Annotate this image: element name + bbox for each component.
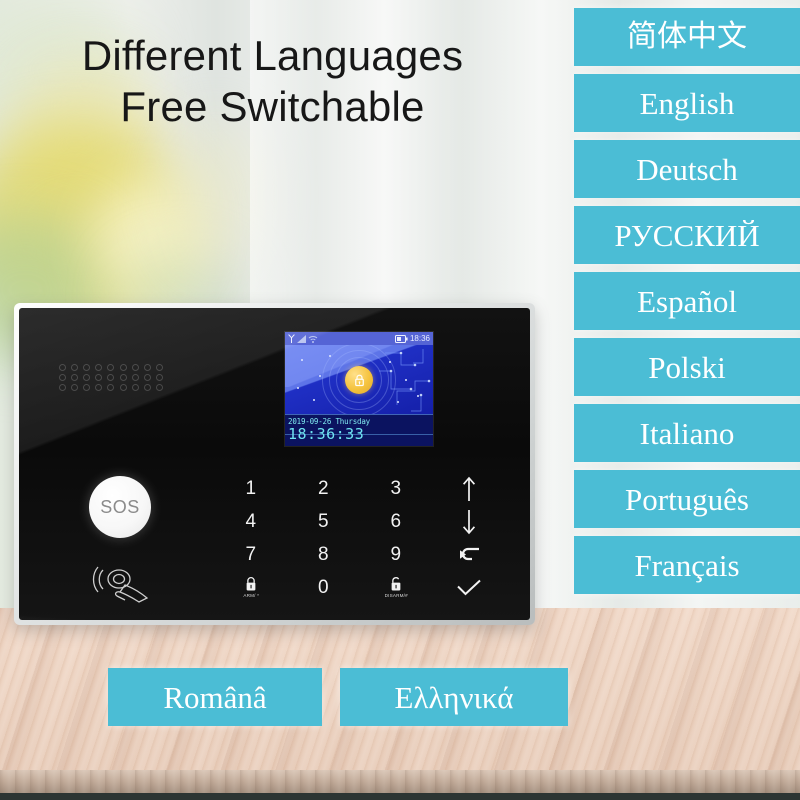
wifi-icon <box>308 335 318 343</box>
language-badge-russian[interactable]: РУССКИЙ <box>574 206 800 264</box>
padlock-icon <box>345 366 373 394</box>
lcd-display: 18:36 2019-09-26 Thursday 18:36:33 <box>285 332 433 446</box>
key-label: 4 <box>245 512 257 531</box>
key-sublabel: ARM/ * <box>243 594 259 599</box>
key-6[interactable]: 6 <box>360 505 433 538</box>
lock-closed-icon <box>244 576 258 592</box>
language-badge-romanian[interactable]: Românâ <box>108 668 322 726</box>
star-dot <box>301 359 303 361</box>
key-5[interactable]: 5 <box>288 505 361 538</box>
status-right-group: 18:36 <box>395 335 430 343</box>
key-label: 9 <box>390 545 402 564</box>
key-label: 1 <box>245 479 257 498</box>
rfid-card-tap-icon <box>89 565 161 605</box>
checkmark-icon <box>456 579 482 597</box>
circuit-pattern <box>375 345 433 415</box>
sos-button[interactable]: SOS <box>89 476 151 538</box>
key-sublabel: DISARM/# <box>385 594 408 599</box>
arrow-up-icon <box>462 476 476 502</box>
key-3[interactable]: 3 <box>360 472 433 505</box>
language-badge-german[interactable]: Deutsch <box>574 140 800 198</box>
keypad[interactable]: 1 2 3 4 5 6 7 8 9 <box>215 472 505 604</box>
lcd-status-bar: 18:36 <box>285 332 433 345</box>
star-dot <box>319 375 321 377</box>
status-left-icons <box>288 334 318 343</box>
key-confirm[interactable] <box>433 571 506 604</box>
key-8[interactable]: 8 <box>288 538 361 571</box>
star-dot <box>297 387 299 389</box>
arrow-down-icon <box>462 509 476 535</box>
key-4[interactable]: 4 <box>215 505 288 538</box>
key-2[interactable]: 2 <box>288 472 361 505</box>
lcd-status-clock: 18:36 <box>410 335 430 343</box>
key-0[interactable]: 0 <box>288 571 361 604</box>
key-label: 5 <box>318 512 330 531</box>
key-9[interactable]: 9 <box>360 538 433 571</box>
lcd-wallpaper <box>285 345 433 415</box>
star-dot <box>329 355 331 357</box>
key-1[interactable]: 1 <box>215 472 288 505</box>
alarm-panel-device: SOS <box>14 303 535 625</box>
key-label: 2 <box>318 479 330 498</box>
bokeh-blur <box>170 120 260 270</box>
language-badge-portuguese[interactable]: Português <box>574 470 800 528</box>
speaker-grille-icon <box>59 364 165 391</box>
signal-bars-icon <box>297 335 306 343</box>
language-badge-italian[interactable]: Italiano <box>574 404 800 462</box>
language-badge-row: Românâ Ελληνικά <box>108 668 568 726</box>
key-label: 7 <box>245 545 257 564</box>
headline-line-1: Different Languages <box>0 30 545 81</box>
key-label: 6 <box>390 512 402 531</box>
key-7[interactable]: 7 <box>215 538 288 571</box>
lcd-datetime-panel: 2019-09-26 Thursday 18:36:33 <box>285 414 433 446</box>
key-label: 8 <box>318 545 330 564</box>
language-badge-chinese[interactable]: 简体中文 <box>574 8 800 66</box>
sos-label: SOS <box>100 497 140 518</box>
key-back[interactable] <box>433 538 506 571</box>
page-title: Different Languages Free Switchable <box>0 30 545 132</box>
panel-glass-face: SOS <box>19 308 530 620</box>
key-arm[interactable]: ARM/ * <box>215 571 288 604</box>
key-label: 3 <box>390 479 402 498</box>
language-badge-column: 简体中文 English Deutsch РУССКИЙ Español Pol… <box>574 8 800 602</box>
language-badge-greek[interactable]: Ελληνικά <box>340 668 568 726</box>
language-badge-french[interactable]: Français <box>574 536 800 594</box>
language-badge-polish[interactable]: Polski <box>574 338 800 396</box>
key-arrow-down[interactable] <box>433 505 506 538</box>
key-label: 0 <box>318 578 330 597</box>
floor-shadow <box>0 793 800 800</box>
lock-open-icon <box>389 576 403 592</box>
back-arrow-icon <box>457 546 481 564</box>
antenna-icon <box>288 334 295 343</box>
lcd-time: 18:36:33 <box>288 427 364 442</box>
key-arrow-up[interactable] <box>433 472 506 505</box>
key-disarm[interactable]: DISARM/# <box>360 571 433 604</box>
language-badge-spanish[interactable]: Español <box>574 272 800 330</box>
language-badge-english[interactable]: English <box>574 74 800 132</box>
battery-icon <box>395 335 408 343</box>
product-marketing-image: Different Languages Free Switchable SOS <box>0 0 800 800</box>
headline-line-2: Free Switchable <box>0 81 545 132</box>
star-dot <box>313 399 315 401</box>
